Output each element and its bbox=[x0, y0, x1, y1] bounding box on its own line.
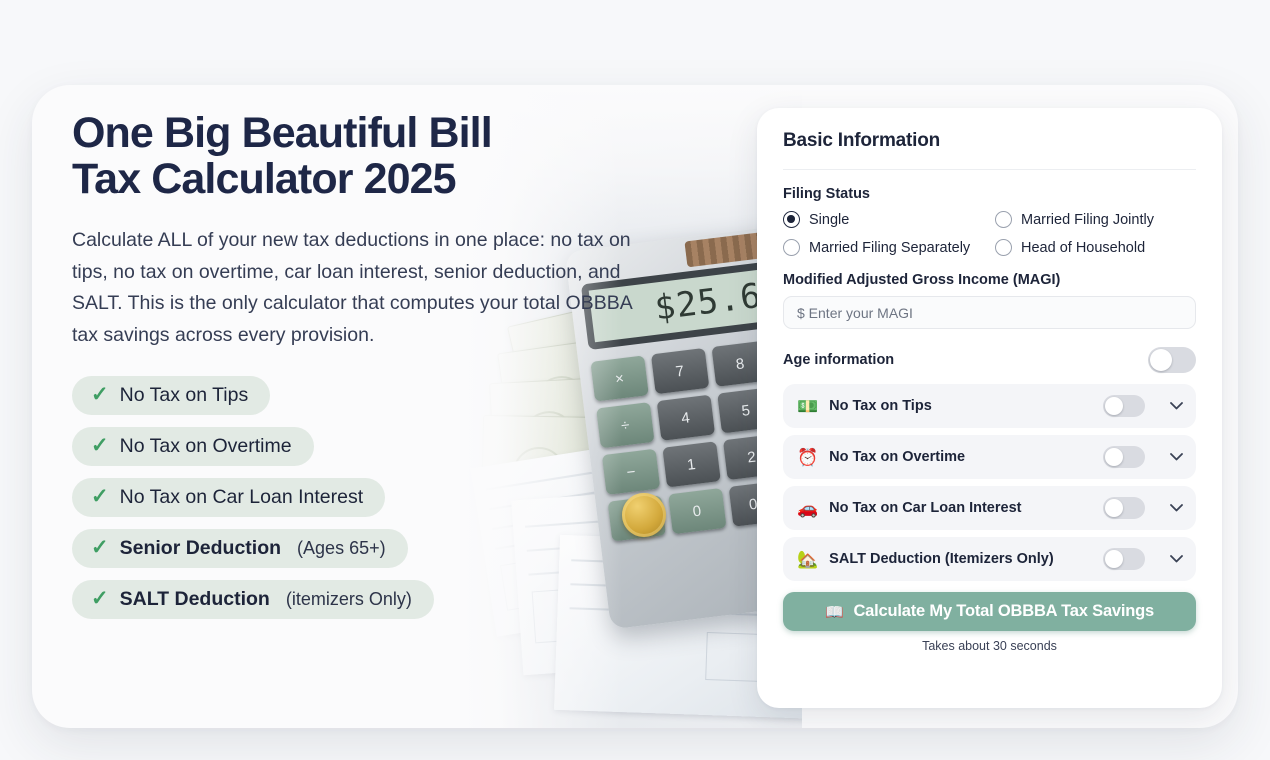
age-information-toggle[interactable] bbox=[1148, 347, 1196, 373]
panel-divider bbox=[783, 169, 1196, 170]
radio-label: Head of Household bbox=[1021, 240, 1145, 256]
magi-input[interactable] bbox=[783, 296, 1196, 329]
feature-pill-label: No Tax on Car Loan Interest bbox=[120, 486, 364, 509]
filing-status-label: Filing Status bbox=[783, 186, 1196, 202]
check-icon: ✓ bbox=[91, 486, 109, 507]
chevron-down-icon[interactable] bbox=[1168, 555, 1184, 563]
radio-icon[interactable] bbox=[995, 239, 1012, 256]
check-icon: ✓ bbox=[91, 384, 109, 405]
deduction-toggle-salt-deduction[interactable] bbox=[1103, 548, 1145, 570]
feature-pill-label: Senior Deduction bbox=[120, 537, 281, 560]
radio-label: Married Filing Jointly bbox=[1021, 212, 1154, 228]
magi-label: Modified Adjusted Gross Income (MAGI) bbox=[783, 272, 1196, 288]
deduction-row-salt-deduction[interactable]: 🏡 SALT Deduction (Itemizers Only) bbox=[783, 537, 1196, 581]
feature-pill-no-tax-on-overtime: ✓ No Tax on Overtime bbox=[72, 427, 314, 466]
radio-icon[interactable] bbox=[995, 211, 1012, 228]
book-icon: 📖 bbox=[825, 603, 843, 621]
toggle-knob bbox=[1150, 349, 1172, 371]
calculate-button-label: Calculate My Total OBBBA Tax Savings bbox=[853, 602, 1154, 621]
chevron-down-icon[interactable] bbox=[1168, 504, 1184, 512]
toggle-knob bbox=[1105, 397, 1123, 415]
page-title-line-2: Tax Calculator 2025 bbox=[72, 157, 752, 203]
hero-card: $25.630 × 7 8 9 ÷ 4 5 6 − 1 2 3 + 0 00 0… bbox=[32, 85, 1238, 728]
deduction-row-no-tax-on-overtime[interactable]: ⏰ No Tax on Overtime bbox=[783, 435, 1196, 479]
deduction-row-label: No Tax on Car Loan Interest bbox=[829, 500, 1092, 516]
feature-pill-label: No Tax on Overtime bbox=[120, 435, 292, 458]
radio-option-married-filing-jointly[interactable]: Married Filing Jointly bbox=[995, 211, 1196, 228]
page-title-line-1: One Big Beautiful Bill bbox=[72, 109, 492, 157]
toggle-knob bbox=[1105, 499, 1123, 517]
money-icon: 💵 bbox=[797, 398, 818, 415]
deduction-row-no-tax-on-car-loan-interest[interactable]: 🚗 No Tax on Car Loan Interest bbox=[783, 486, 1196, 530]
deduction-row-label: SALT Deduction (Itemizers Only) bbox=[829, 551, 1092, 567]
deduction-row-label: No Tax on Tips bbox=[829, 398, 1092, 414]
radio-option-head-of-household[interactable]: Head of Household bbox=[995, 239, 1196, 256]
house-icon: 🏡 bbox=[797, 551, 818, 568]
feature-list: ✓ No Tax on Tips ✓ No Tax on Overtime ✓ … bbox=[72, 376, 752, 619]
feature-pill-label: SALT Deduction bbox=[120, 588, 270, 611]
check-icon: ✓ bbox=[91, 435, 109, 456]
panel-title: Basic Information bbox=[783, 130, 1196, 152]
radio-icon[interactable] bbox=[783, 239, 800, 256]
age-information-label: Age information bbox=[783, 352, 894, 368]
chevron-down-icon[interactable] bbox=[1168, 453, 1184, 461]
hero-content: One Big Beautiful Bill Tax Calculator 20… bbox=[72, 111, 752, 619]
hero-subtitle: Calculate ALL of your new tax deductions… bbox=[72, 225, 642, 351]
feature-pill-salt-deduction: ✓ SALT Deduction (itemizers Only) bbox=[72, 580, 434, 619]
car-icon: 🚗 bbox=[797, 500, 818, 517]
toggle-knob bbox=[1105, 448, 1123, 466]
check-icon: ✓ bbox=[91, 537, 109, 558]
radio-icon[interactable] bbox=[783, 211, 800, 228]
check-icon: ✓ bbox=[91, 588, 109, 609]
feature-pill-senior-deduction: ✓ Senior Deduction (Ages 65+) bbox=[72, 529, 408, 568]
calculate-button[interactable]: 📖 Calculate My Total OBBBA Tax Savings bbox=[783, 592, 1196, 631]
radio-option-single[interactable]: Single bbox=[783, 211, 995, 228]
deduction-toggle-no-tax-on-overtime[interactable] bbox=[1103, 446, 1145, 468]
deduction-toggle-no-tax-on-tips[interactable] bbox=[1103, 395, 1145, 417]
toggle-knob bbox=[1105, 550, 1123, 568]
feature-pill-no-tax-on-car-loan-interest: ✓ No Tax on Car Loan Interest bbox=[72, 478, 385, 517]
feature-pill-label: No Tax on Tips bbox=[120, 384, 249, 407]
deduction-toggle-no-tax-on-car-loan-interest[interactable] bbox=[1103, 497, 1145, 519]
chevron-down-icon[interactable] bbox=[1168, 402, 1184, 410]
deduction-row-label: No Tax on Overtime bbox=[829, 449, 1092, 465]
calculator-form-panel: Basic Information Filing Status Single M… bbox=[757, 108, 1222, 708]
feature-pill-suffix: (itemizers Only) bbox=[286, 589, 412, 610]
alarm-clock-icon: ⏰ bbox=[797, 449, 818, 466]
deduction-accordion-list: 💵 No Tax on Tips ⏰ No Tax on Overtime bbox=[783, 384, 1196, 581]
feature-pill-suffix: (Ages 65+) bbox=[297, 538, 386, 559]
radio-option-married-filing-separately[interactable]: Married Filing Separately bbox=[783, 239, 995, 256]
page-title: One Big Beautiful Bill Tax Calculator 20… bbox=[72, 111, 752, 202]
cta-note: Takes about 30 seconds bbox=[783, 639, 1196, 653]
age-information-row[interactable]: Age information bbox=[783, 347, 1196, 373]
radio-label: Married Filing Separately bbox=[809, 240, 970, 256]
filing-status-radio-group: Single Married Filing Jointly Married Fi… bbox=[783, 211, 1196, 256]
feature-pill-no-tax-on-tips: ✓ No Tax on Tips bbox=[72, 376, 270, 415]
deduction-row-no-tax-on-tips[interactable]: 💵 No Tax on Tips bbox=[783, 384, 1196, 428]
radio-label: Single bbox=[809, 212, 849, 228]
